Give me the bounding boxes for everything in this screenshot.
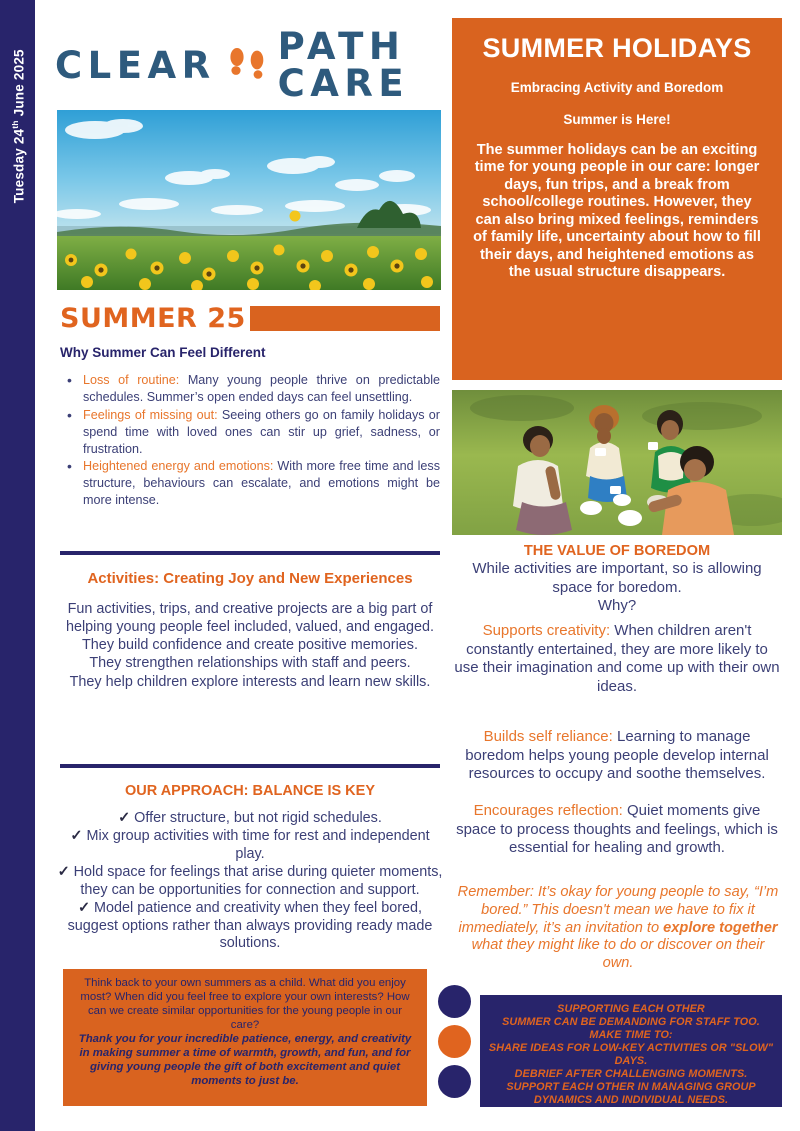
date-sidebar: Tuesday 24th June 2025 — [0, 0, 35, 1131]
divider-activities — [60, 551, 440, 555]
bullet-lead: Feelings of missing out: — [83, 408, 218, 422]
decor-circle-navy-top — [438, 985, 471, 1018]
logo-word-clear: CLEAR — [55, 47, 216, 84]
reflection-question: Think back to your own summers as a chil… — [75, 976, 415, 1032]
summer-25-heading-row: SUMMER 25 — [60, 302, 440, 334]
panel-subtitle-2: Summer is Here! — [470, 112, 764, 127]
check-icon: ✓ — [58, 864, 70, 880]
check-icon: ✓ — [78, 900, 90, 916]
bullet-item: Feelings of missing out: Seeing others g… — [62, 407, 440, 458]
summer-25-title: SUMMER 25 — [60, 305, 246, 332]
footprints-icon — [228, 43, 266, 88]
bullet-lead: Loss of routine: — [83, 373, 179, 387]
divider-approach — [60, 764, 440, 768]
summer-holidays-panel: SUMMER HOLIDAYS Embracing Activity and B… — [452, 18, 782, 380]
boredom-lead: Encourages reflection: — [474, 802, 623, 819]
date-ordinal-suffix: th — [9, 120, 19, 128]
bullet-item: Loss of routine: Many young people thriv… — [62, 372, 440, 406]
date-prefix: Tuesday 24 — [11, 129, 26, 204]
why-summer-heading: Why Summer Can Feel Different — [60, 345, 440, 360]
boredom-lead: Supports creativity: — [483, 622, 611, 639]
why-summer-bullets: Loss of routine: Many young people thriv… — [62, 372, 440, 510]
boredom-heading: THE VALUE OF BOREDOM — [452, 543, 782, 559]
activities-body: Fun activities, trips, and creative proj… — [60, 600, 440, 691]
logo-word-path-care: PATH CARE — [278, 28, 445, 102]
boredom-item-creativity: Supports creativity: When children aren'… — [452, 622, 782, 696]
check-icon: ✓ — [118, 810, 130, 826]
date-rest: June 2025 — [11, 49, 26, 120]
approach-heading: OUR APPROACH: BALANCE IS KEY — [60, 783, 440, 799]
issue-date: Tuesday 24th June 2025 — [9, 49, 26, 203]
bullet-lead: Heightened energy and emotions: — [83, 459, 273, 473]
boredom-item-reflection: Encourages reflection: Quiet moments giv… — [452, 802, 782, 858]
remember-emphasis: explore together — [663, 920, 777, 936]
supporting-each-other-box: SUPPORTING EACH OTHERSUMMER CAN BE DEMAN… — [480, 995, 782, 1107]
newsletter-page: Tuesday 24th June 2025 CLEAR PATH CARE S… — [0, 0, 800, 1131]
brand-logo: CLEAR PATH CARE STEP BY STEP FOR THE FUT… — [55, 28, 445, 100]
approach-body: ✓ Offer structure, but not rigid schedul… — [55, 810, 445, 953]
activities-heading: Activities: Creating Joy and New Experie… — [60, 570, 440, 587]
summer-25-accent-bar — [250, 306, 440, 331]
check-icon: ✓ — [70, 828, 82, 844]
sunflower-field-photo — [57, 110, 441, 290]
boredom-item-self-reliance: Builds self reliance: Learning to manage… — [452, 728, 782, 784]
panel-title: SUMMER HOLIDAYS — [470, 34, 764, 63]
decor-circle-navy-bottom — [438, 1065, 471, 1098]
remember-note: Remember: It’s okay for young people to … — [457, 884, 779, 973]
panel-subtitle-1: Embracing Activity and Boredom — [470, 80, 764, 95]
boredom-intro: While activities are important, so is al… — [452, 560, 782, 616]
boredom-lead: Builds self reliance: — [484, 728, 613, 745]
bullet-item: Heightened energy and emotions: With mor… — [62, 458, 440, 509]
reflection-thanks: Thank you for your incredible patience, … — [75, 1032, 415, 1088]
decor-circle-orange-middle — [438, 1025, 471, 1058]
panel-paragraph: The summer holidays can be an exciting t… — [470, 142, 764, 282]
reflection-box: Think back to your own summers as a chil… — [63, 969, 427, 1106]
young-people-sitting-on-grass-photo — [452, 390, 782, 535]
